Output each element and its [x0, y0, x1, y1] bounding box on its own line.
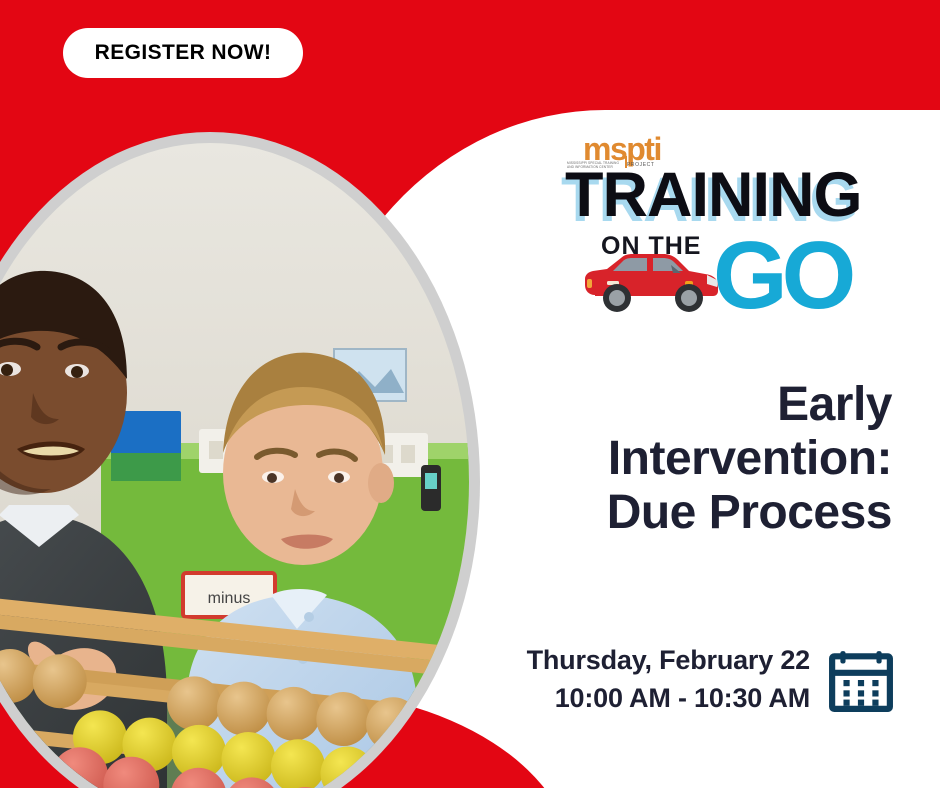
register-now-button[interactable]: REGISTER NOW! [63, 28, 303, 78]
schedule-date: Thursday, February 22 [527, 642, 810, 680]
session-title-line-2: Intervention: [472, 432, 892, 486]
calendar-icon [828, 647, 894, 713]
poster-canvas: minus [0, 0, 940, 788]
logo-training-word: TRAINING [565, 164, 861, 227]
classroom-photo-illustration: minus [0, 143, 469, 788]
training-on-the-go-logo: mspti MISSISSIPPI SPECIAL TRAINING AND I… [565, 136, 905, 326]
logo-go-word: GO [713, 228, 850, 324]
schedule-time: 10:00 AM - 10:30 AM [527, 680, 810, 718]
register-now-label: REGISTER NOW! [95, 41, 272, 65]
session-title-line-3: Due Process [472, 486, 892, 540]
svg-text:minus: minus [208, 590, 251, 607]
photo-ellipse-frame: minus [0, 132, 480, 788]
schedule-text: Thursday, February 22 10:00 AM - 10:30 A… [527, 642, 810, 718]
photo-image: minus [0, 143, 469, 788]
session-title: Early Intervention: Due Process [472, 378, 892, 539]
schedule-block: Thursday, February 22 10:00 AM - 10:30 A… [527, 642, 894, 718]
red-car-icon [577, 251, 727, 321]
session-title-line-1: Early [472, 378, 892, 432]
